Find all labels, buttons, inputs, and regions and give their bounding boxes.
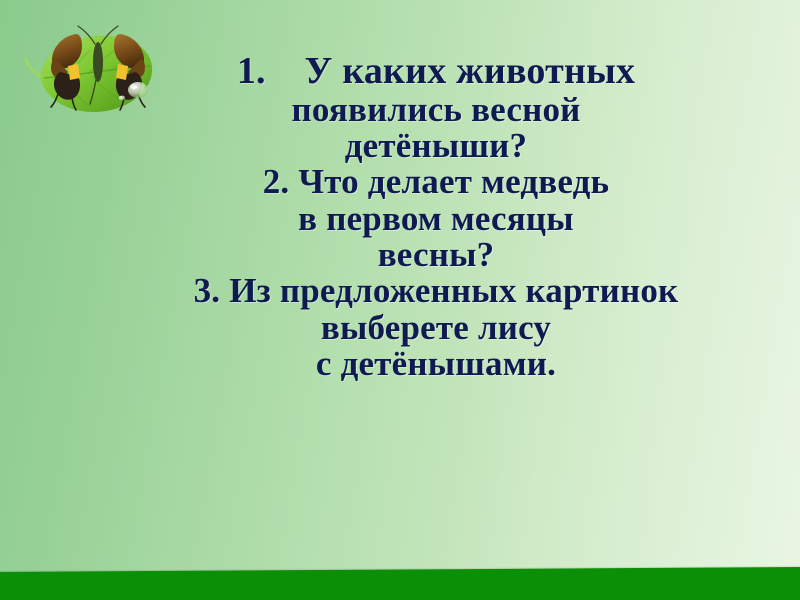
question-text-block: 1. У каких животных появились весной дет…: [96, 52, 776, 383]
question-line-9: с детёнышами.: [96, 346, 776, 382]
question-line-7: 3. Из предложенных картинок: [96, 273, 776, 309]
question-line-4: 2. Что делает медведь: [96, 164, 776, 200]
slide-canvas: 1. У каких животных появились весной дет…: [0, 0, 800, 600]
question-line-6: весны?: [96, 237, 776, 273]
question-line-1: 1. У каких животных: [96, 52, 776, 92]
question-line-8: выберете лису: [96, 310, 776, 346]
question-line-5: в первом месяцы: [96, 201, 776, 237]
question-line-2: появились весной: [96, 92, 776, 128]
bottom-green-band-cap: [0, 582, 800, 600]
question-line-3: детёныши?: [96, 128, 776, 164]
